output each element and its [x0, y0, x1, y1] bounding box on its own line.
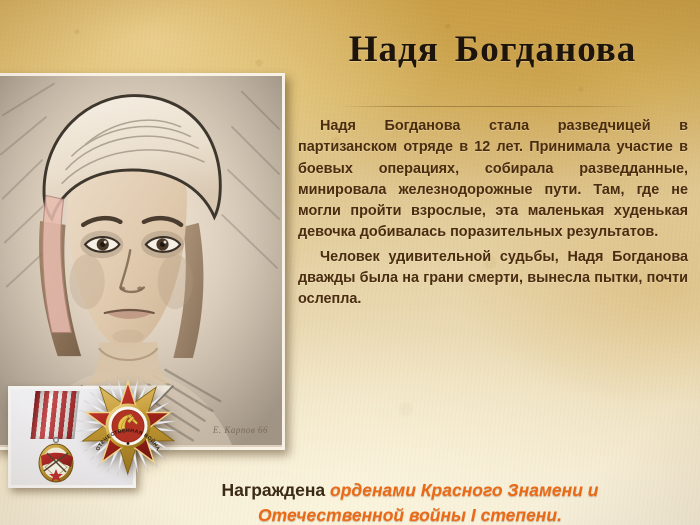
- biography-text: Надя Богданова стала разведчицей в парти…: [298, 116, 688, 311]
- order-red-banner-icon: [35, 437, 77, 485]
- caption-awards-line2: Отечественной войны I степени.: [258, 505, 562, 525]
- artist-signature: Е. Карпов 66: [213, 425, 268, 435]
- red-banner-ribbon-shading: [30, 391, 79, 439]
- caption-awards-line1: орденами Красного Знамени и: [330, 480, 598, 500]
- biography-paragraph-1: Надя Богданова стала разведчицей в парти…: [298, 116, 688, 244]
- title-last-name: Богданова: [455, 28, 637, 71]
- title-first-name: Надя: [349, 28, 439, 71]
- awards-caption: Награждена орденами Красного Знамени и О…: [130, 478, 690, 525]
- page-title: НадяБогданова: [295, 22, 690, 77]
- title-divider: [340, 106, 640, 107]
- slide-canvas: Е. Карпов 66: [0, 0, 700, 525]
- caption-prefix: Награждена: [222, 480, 326, 500]
- biography-paragraph-2: Человек удивительной судьбы, Надя Богдан…: [298, 247, 688, 311]
- order-patriotic-war-icon: ОТЕЧЕСТВЕННАЯ ВОЙНА: [74, 372, 182, 480]
